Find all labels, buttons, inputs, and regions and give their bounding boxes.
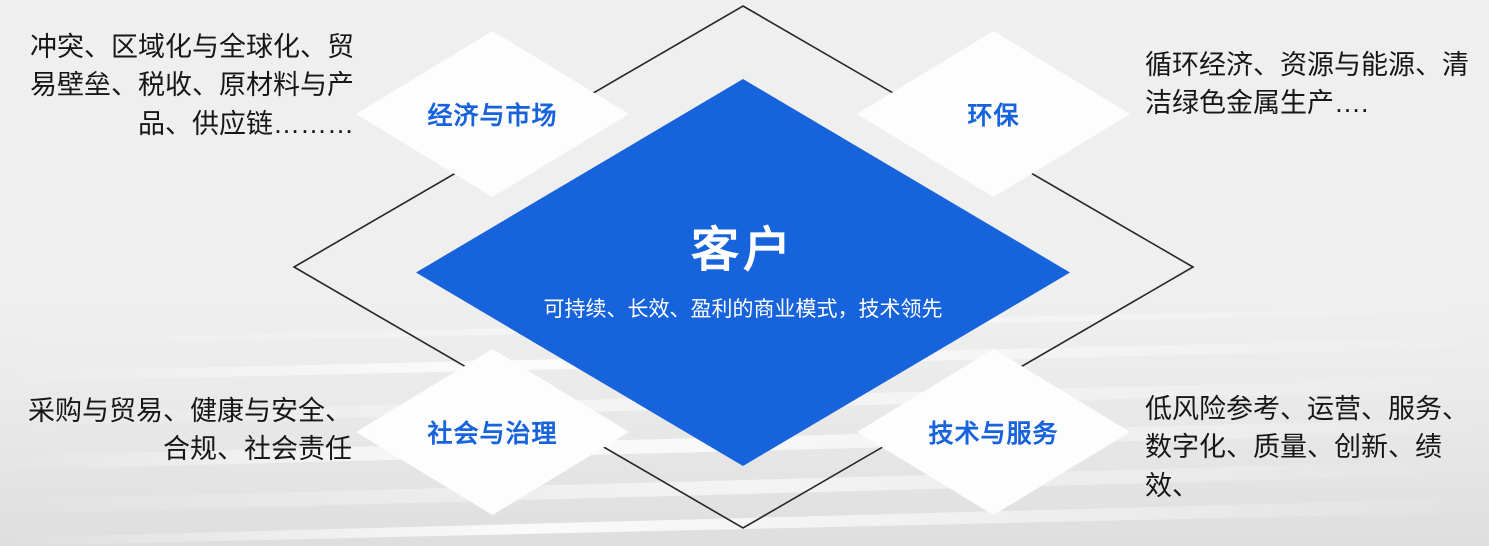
node-customer-center[interactable]: 客户 可持续、长效、盈利的商业模式，技术领先	[416, 79, 1070, 466]
description-bottom-right: 低风险参考、运营、服务、数字化、质量、创新、绩效、	[1145, 390, 1485, 505]
description-bottom-left: 采购与贸易、健康与安全、合规、社会责任	[4, 392, 352, 469]
center-content: 客户 可持续、长效、盈利的商业模式，技术领先	[533, 225, 953, 325]
node-label-environment: 环保	[967, 96, 1019, 132]
node-label-technology: 技术与服务	[928, 414, 1058, 450]
description-top-right: 循环经济、资源与能源、清洁绿色金属生产….	[1145, 46, 1485, 123]
center-subtitle: 可持续、长效、盈利的商业模式，技术领先	[536, 294, 951, 326]
node-label-economy: 经济与市场	[427, 96, 557, 132]
center-title: 客户	[691, 225, 795, 278]
diagram-canvas: 经济与市场 环保 社会与治理 技术与服务 客户 可持续、长效、盈利的商业模式，技…	[0, 0, 1489, 546]
description-top-left: 冲突、区域化与全球化、贸易壁垒、税收、原材料与产品、供应链………	[8, 28, 354, 143]
node-label-social: 社会与治理	[427, 414, 557, 450]
